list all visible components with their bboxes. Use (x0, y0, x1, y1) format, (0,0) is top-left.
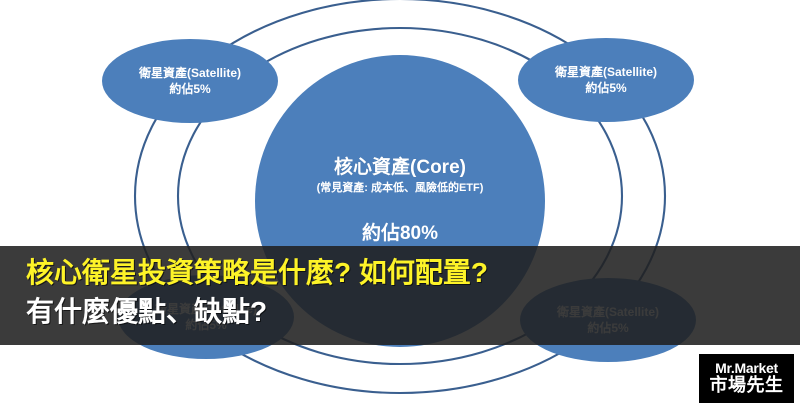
satellite-label: 衛星資產(Satellite) (555, 64, 657, 80)
core-title: 核心資產(Core) (334, 157, 466, 179)
satellite-percent: 約佔5% (169, 81, 210, 97)
brand-logo-english: Mr.Market (715, 361, 778, 376)
satellite-bubble-top-left[interactable]: 衛星資產(Satellite) 約佔5% (102, 39, 278, 123)
brand-logo-chinese: 市場先生 (710, 376, 784, 396)
core-subtitle: (常見資產: 成本低、風險低的ETF) (317, 182, 484, 195)
satellite-bubble-top-right[interactable]: 衛星資產(Satellite) 約佔5% (518, 38, 694, 122)
infographic-canvas: 衛星資產(Satellite) 約佔5% 衛星資產(Satellite) 約佔5… (0, 0, 800, 407)
satellite-label: 衛星資產(Satellite) (139, 65, 241, 81)
headline-banner: 核心衛星投資策略是什麼? 如何配置? 有什麼優點、缺點? (0, 246, 800, 345)
headline-line-2: 有什麼優點、缺點? (26, 293, 800, 332)
brand-logo: Mr.Market 市場先生 (699, 354, 794, 403)
core-percent: 約佔80% (362, 223, 438, 245)
headline-line-1: 核心衛星投資策略是什麼? 如何配置? (26, 253, 800, 293)
satellite-percent: 約佔5% (585, 80, 626, 96)
